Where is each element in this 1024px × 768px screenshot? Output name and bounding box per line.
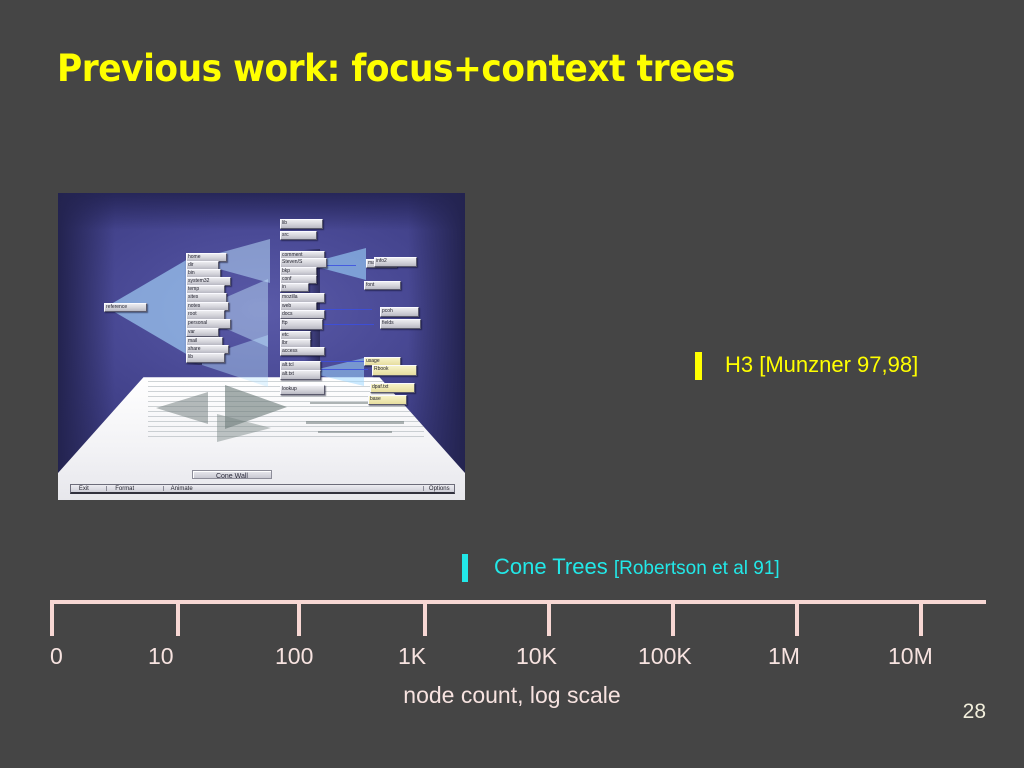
- axis-tick: [671, 600, 675, 636]
- axis-tick: [297, 600, 301, 636]
- toolbar-separator-2: [163, 486, 164, 491]
- axis-tick-label: 0: [50, 643, 63, 670]
- toolbar-label-format[interactable]: Format: [115, 486, 134, 492]
- toolbar-label-animate[interactable]: Animate: [171, 486, 193, 492]
- axis-tick: [423, 600, 427, 636]
- cone-trees-marker-bar: [462, 554, 468, 582]
- tree-node-highlighted[interactable]: Rbook: [372, 365, 417, 376]
- log-scale-axis: [50, 600, 986, 642]
- axis-tick: [547, 600, 551, 636]
- tree-node[interactable]: info2: [374, 257, 417, 267]
- tree-node-highlighted[interactable]: dpaf.txt: [370, 383, 415, 393]
- tree-node[interactable]: in: [280, 283, 309, 292]
- axis-tick: [919, 600, 923, 636]
- tree-node[interactable]: access: [280, 347, 325, 356]
- figure-back-wall-shade: [58, 193, 465, 230]
- axis-tick-label: 10K: [516, 643, 557, 670]
- tree-node[interactable]: docs: [280, 310, 325, 319]
- tree-node[interactable]: src: [280, 231, 317, 240]
- axis-tick-label: 100K: [638, 643, 692, 670]
- axis-tick: [176, 600, 180, 636]
- floor-shadow-triangle-lower: [217, 414, 271, 442]
- page-title: Previous work: focus+context trees: [57, 47, 735, 90]
- floor-shadow-strip-b: [306, 421, 404, 424]
- tree-node[interactable]: lib: [186, 353, 225, 363]
- axis-tick: [50, 600, 54, 636]
- axis-caption: node count, log scale: [0, 682, 1024, 709]
- tree-node[interactable]: font: [364, 281, 401, 290]
- cone-trees-label: Cone Trees [Robertson et al 91]: [494, 554, 780, 580]
- axis-tick-label: 100: [275, 643, 313, 670]
- figure-toolbar[interactable]: Exit Format Animate Options: [70, 484, 455, 494]
- tree-node[interactable]: ftp: [280, 319, 323, 330]
- toolbar-separator-1: [106, 486, 107, 491]
- cone-wall-button[interactable]: Cone Wall: [192, 470, 271, 479]
- tree-node-root[interactable]: reference: [104, 303, 147, 312]
- page-number: 28: [963, 700, 986, 724]
- tree-node[interactable]: lookup: [280, 385, 325, 395]
- tree-node[interactable]: var: [186, 328, 219, 337]
- cone-trees-label-citation: [Robertson et al 91]: [614, 558, 780, 579]
- cone-tree-figure: Cone Wall Exit Format Animate Options re…: [58, 193, 465, 500]
- floor-shadow-triangle-left: [156, 392, 208, 424]
- axis-line: [50, 600, 986, 604]
- h3-label: H3 [Munzner 97,98]: [725, 352, 918, 378]
- axis-tick-label: 1K: [398, 643, 426, 670]
- tree-node-highlighted[interactable]: base: [368, 395, 407, 405]
- tree-node[interactable]: pcoh: [380, 307, 419, 317]
- h3-marker-bar: [695, 352, 702, 380]
- cone-trees-label-main: Cone Trees: [494, 554, 614, 579]
- toolbar-label-exit[interactable]: Exit: [79, 486, 89, 492]
- toolbar-label-options[interactable]: Options: [429, 486, 450, 492]
- axis-tick-label: 10M: [888, 643, 933, 670]
- axis-tick-label: 1M: [768, 643, 800, 670]
- floor-shadow-strip-c: [318, 431, 391, 433]
- tree-node[interactable]: lib: [280, 219, 323, 229]
- tree-node[interactable]: alt.txt: [280, 370, 321, 380]
- tree-node[interactable]: fields: [380, 319, 421, 329]
- toolbar-separator-3: [423, 486, 424, 491]
- cone-wall-button-label: Cone Wall: [193, 471, 270, 482]
- axis-tick-label: 10: [148, 643, 174, 670]
- axis-tick: [795, 600, 799, 636]
